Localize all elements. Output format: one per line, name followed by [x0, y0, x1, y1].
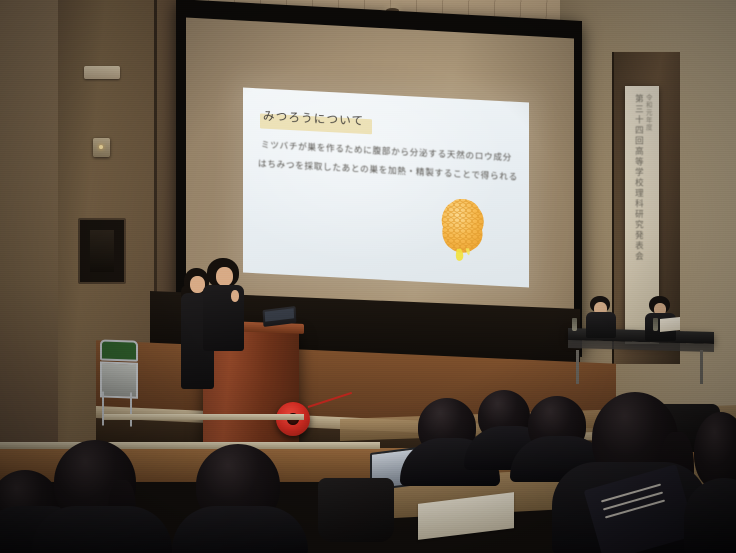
judge-papers — [660, 317, 680, 332]
wall-sign-plate — [84, 66, 120, 79]
audience-bench-rail — [104, 414, 304, 420]
table-leg — [700, 350, 703, 384]
light-switch-panel[interactable] — [93, 138, 110, 157]
water-bottle — [572, 318, 577, 331]
presenter-hand — [231, 290, 239, 302]
presenter-right — [203, 258, 245, 350]
audience-shoulders — [172, 506, 308, 553]
banner-primary-text: 第三十四回高等学校理科研究発表会 — [633, 94, 644, 344]
chair-seat — [100, 361, 138, 398]
photograph-scene: 第三十四回高等学校理科研究発表会 令和元年度 みつろうについて ミツバチが巣を作… — [0, 0, 736, 553]
slide-title-group: みつろうについて — [263, 108, 364, 129]
audience-bag — [318, 478, 394, 542]
chair-leg — [102, 391, 104, 425]
audience-shoulders — [32, 506, 172, 553]
chair-backrest — [100, 339, 138, 361]
honeycomb-illustration — [436, 196, 490, 265]
left-wall-panel — [0, 0, 60, 470]
audience-bench-rail — [0, 442, 380, 449]
chair-leg — [130, 392, 132, 426]
presenter-face — [216, 267, 233, 286]
presentation-slide: みつろうについて ミツバチが巣を作るために腹部から分泌する天然のロウ成分 はちみ… — [243, 88, 529, 288]
wall-vent — [78, 218, 126, 284]
table-leg — [576, 350, 579, 384]
judge-torso — [586, 312, 616, 338]
water-bottle — [653, 318, 658, 331]
